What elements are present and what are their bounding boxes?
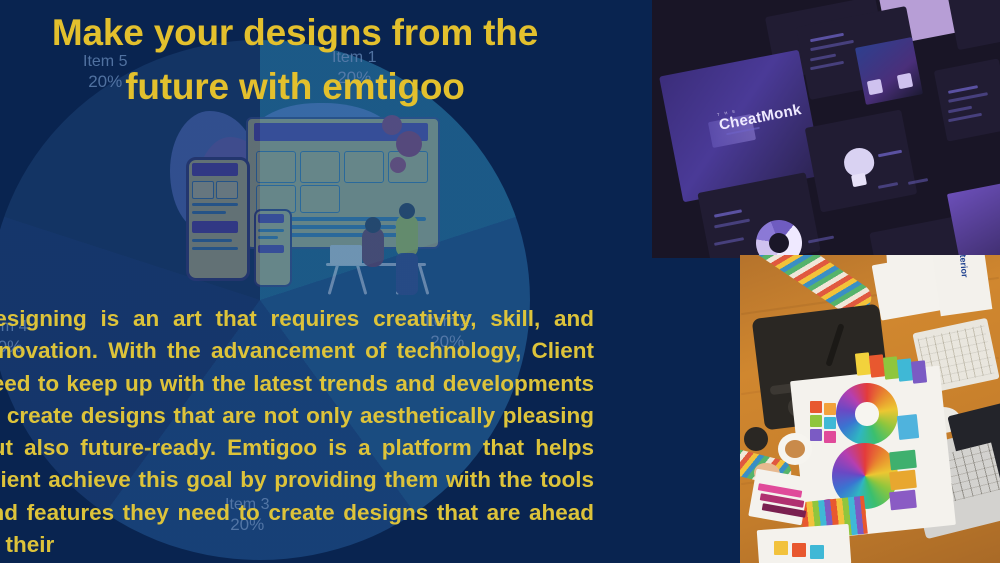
slide-canvas: Item 1 20% Item 2 20% Item 3 20% Item 4 …	[0, 0, 1000, 563]
page-title-line-1: Make your designs from the	[0, 6, 590, 60]
designer-desk-image: Interior	[740, 255, 1000, 563]
body-paragraph: Designing is an art that requires creati…	[0, 303, 594, 561]
web-design-illustration	[150, 95, 490, 310]
page-title: Make your designs from the future with e…	[0, 6, 590, 114]
presentation-mockup-image: T H E CheatMonk	[652, 0, 1000, 258]
magazine-title: Interior	[957, 255, 970, 278]
page-title-line-2: future with emtigoo	[0, 60, 590, 114]
